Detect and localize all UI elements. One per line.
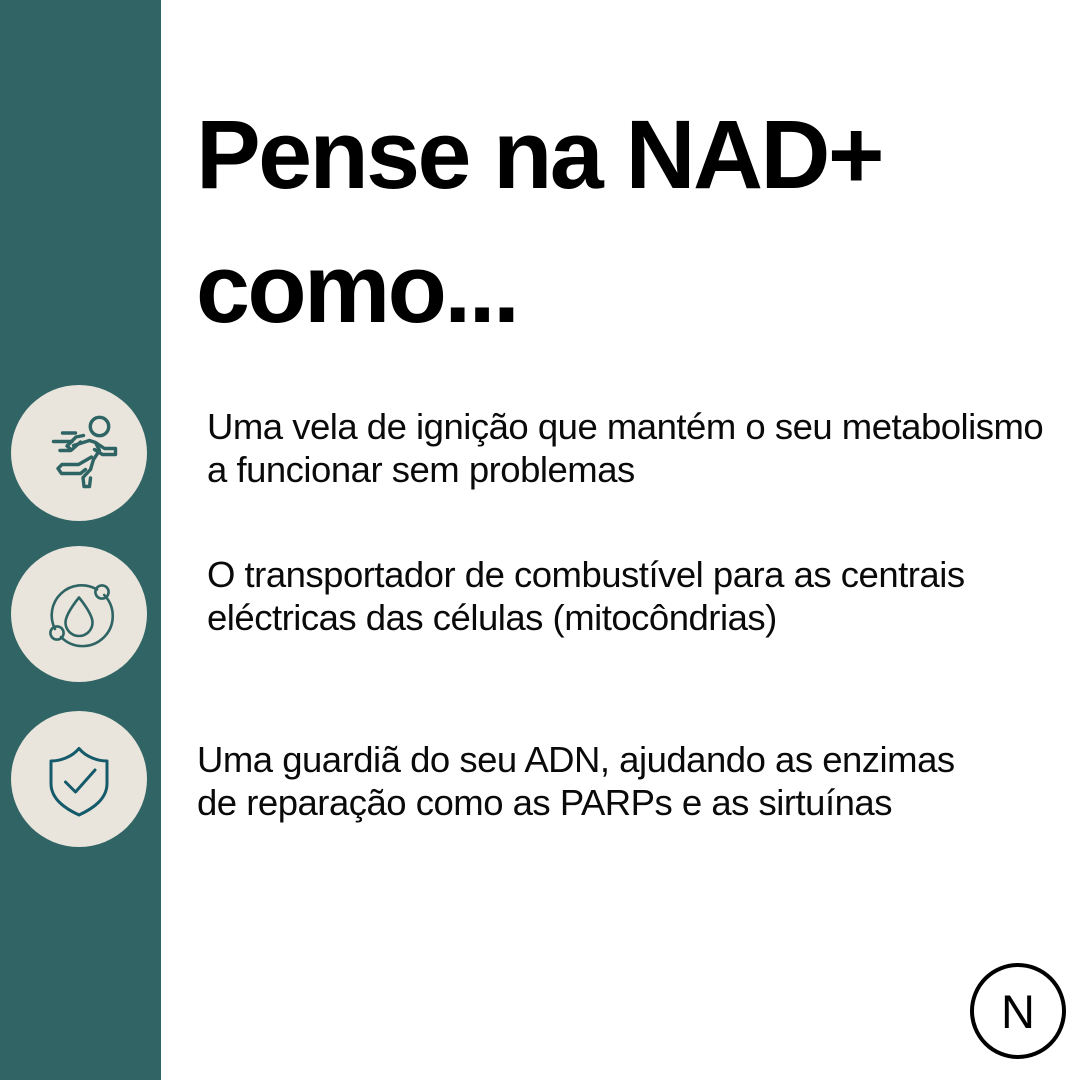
page-title: Pense na NAD+ como...	[196, 88, 1066, 356]
benefit-icon-badge-3	[11, 711, 147, 847]
shield-check-icon	[36, 736, 122, 822]
benefit-icon-badge-2	[11, 546, 147, 682]
brand-logo-letter: N	[1001, 988, 1035, 1035]
brand-logo: N	[970, 963, 1066, 1059]
benefit-icon-badge-1	[11, 385, 147, 521]
fuel-drop-orbit-icon	[36, 571, 122, 657]
running-person-icon	[33, 407, 125, 499]
benefit-text-2: O transportador de combustível para as c…	[207, 553, 1037, 640]
poster-canvas: Pense na NAD+ como... Uma vela de igniçã…	[0, 0, 1080, 1080]
benefit-text-1: Uma vela de ignição que mantém o seu met…	[207, 405, 1047, 492]
sidebar-rail	[0, 0, 161, 1080]
benefit-text-3: Uma guardiã do seu ADN, ajudando as enzi…	[197, 738, 997, 825]
